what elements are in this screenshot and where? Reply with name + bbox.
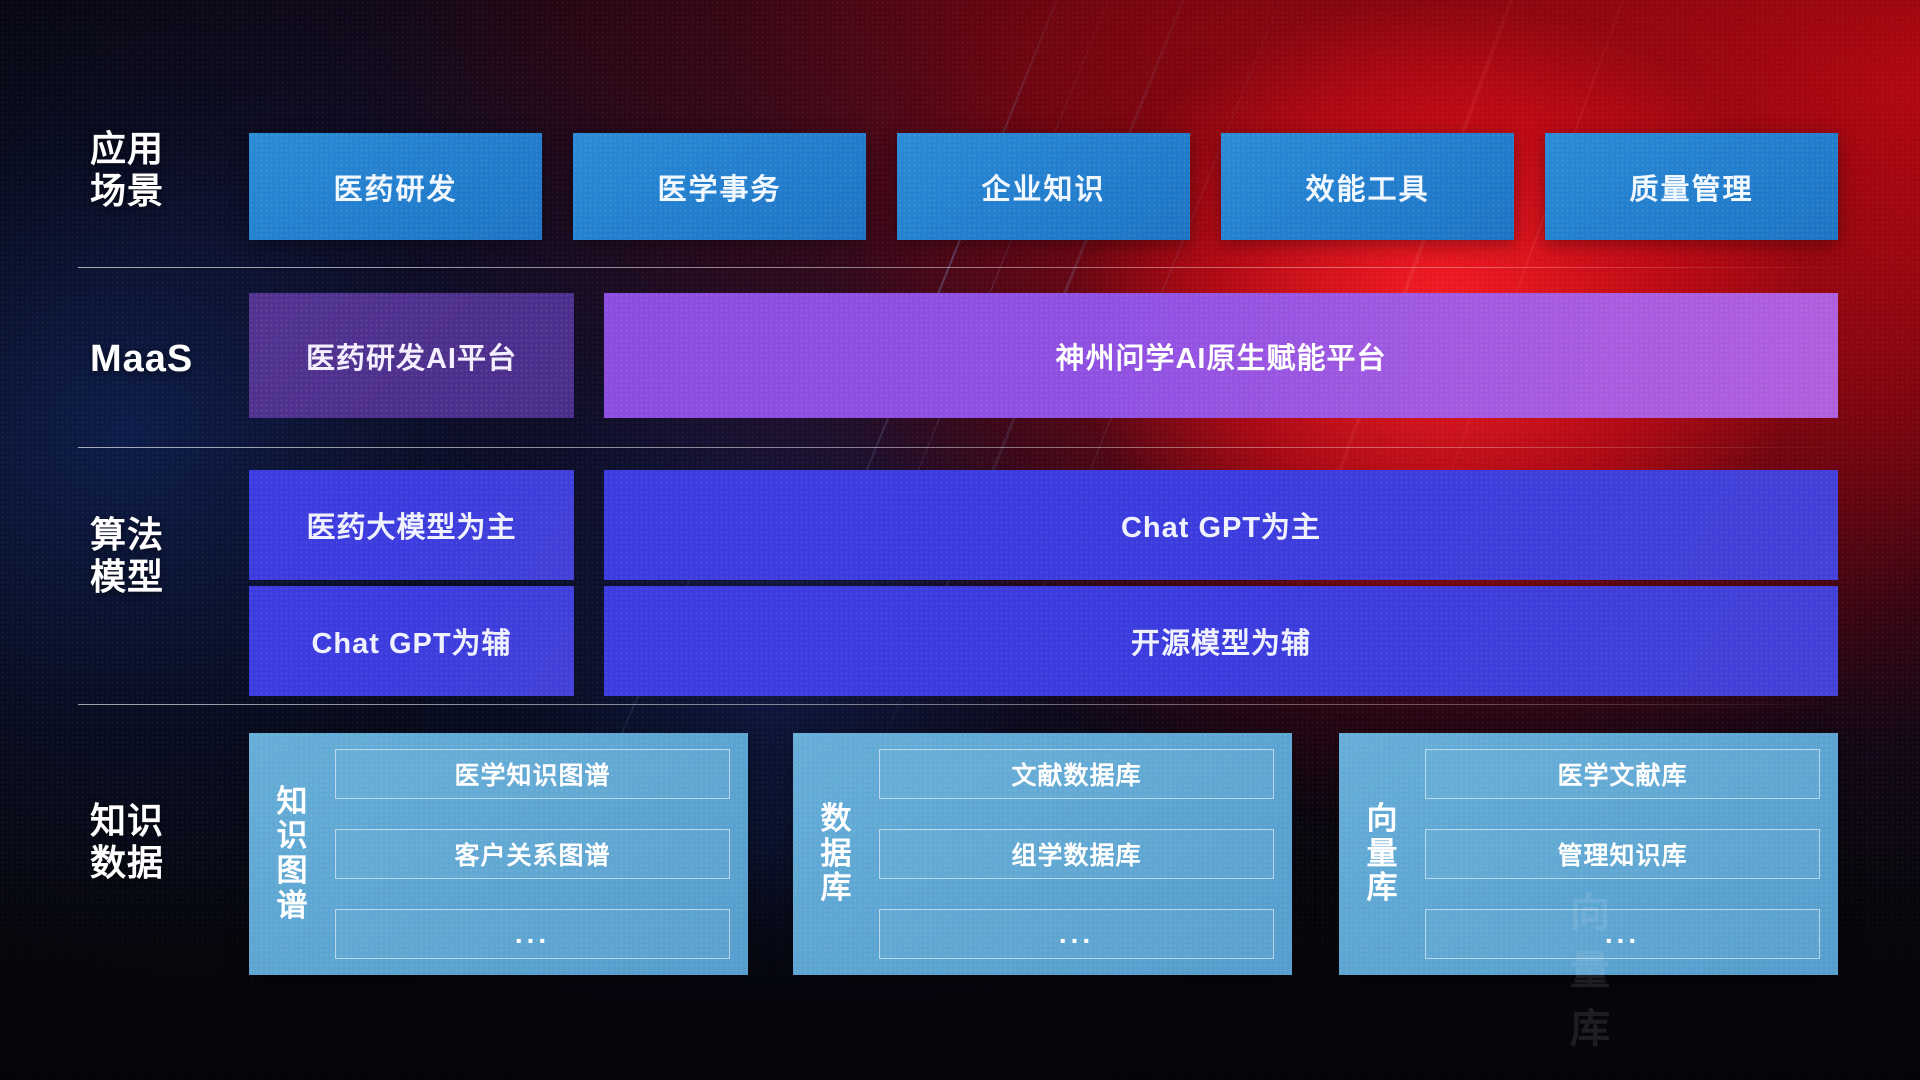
knowledge-panel-items-1: 医学知识图谱 客户关系图谱 ...	[321, 749, 730, 959]
knowledge-item-2-2[interactable]: 组学数据库	[879, 829, 1274, 879]
knowledge-panel-title-2-char2: 据	[821, 837, 852, 872]
app-scenario-box-1[interactable]: 医药研发	[249, 133, 542, 240]
row-label-application-line2: 场景	[90, 170, 230, 212]
algorithm-box-left-1[interactable]: 医药大模型为主	[249, 470, 574, 580]
divider-maas-algorithm	[78, 447, 1840, 448]
divider-application-maas	[78, 267, 1840, 268]
row-label-application: 应用 场景	[90, 128, 230, 213]
app-scenario-label-3: 企业知识	[981, 166, 1105, 208]
algorithm-label-right-2: 开源模型为辅	[1131, 620, 1311, 662]
knowledge-item-1-1[interactable]: 医学知识图谱	[335, 749, 730, 799]
row-label-algorithm-line1: 算法	[90, 514, 230, 556]
row-label-maas-line1: MaaS	[90, 337, 230, 382]
app-scenario-label-4: 效能工具	[1305, 166, 1429, 208]
knowledge-item-1-2[interactable]: 客户关系图谱	[335, 829, 730, 879]
algorithm-label-left-1: 医药大模型为主	[306, 504, 516, 546]
row-label-algorithm-line2: 模型	[90, 556, 230, 598]
app-scenario-box-5[interactable]: 质量管理	[1545, 133, 1838, 240]
knowledge-panel-title-1-char4: 谱	[277, 889, 308, 924]
knowledge-panel-title-1-char3: 图	[277, 854, 308, 889]
app-scenario-box-2[interactable]: 医学事务	[573, 133, 866, 240]
knowledge-item-2-1[interactable]: 文献数据库	[879, 749, 1274, 799]
knowledge-panel-items-2: 文献数据库 组学数据库 ...	[865, 749, 1274, 959]
knowledge-item-3-3[interactable]: ...	[1425, 909, 1820, 959]
row-label-knowledge-line1: 知识	[90, 800, 230, 842]
knowledge-panel-title-2: 数 据 库	[807, 749, 865, 959]
knowledge-panel-title-3-char2: 量	[1367, 837, 1398, 872]
maas-box-left[interactable]: 医药研发AI平台	[249, 293, 574, 418]
knowledge-item-2-3[interactable]: ...	[879, 909, 1274, 959]
algorithm-box-right-1[interactable]: Chat GPT为主	[604, 470, 1838, 580]
knowledge-panel-title-1: 知 识 图 谱	[263, 749, 321, 959]
row-label-maas: MaaS	[90, 337, 230, 382]
maas-box-right-label: 神州问学AI原生赋能平台	[1055, 335, 1386, 377]
row-label-application-line1: 应用	[90, 128, 230, 170]
app-scenario-box-3[interactable]: 企业知识	[897, 133, 1190, 240]
algorithm-box-left-2[interactable]: Chat GPT为辅	[249, 586, 574, 696]
knowledge-panel-items-3: 医学文献库 管理知识库 ...	[1411, 749, 1820, 959]
knowledge-panel-title-3-char1: 向	[1367, 802, 1398, 837]
algorithm-box-right-2[interactable]: 开源模型为辅	[604, 586, 1838, 696]
knowledge-item-1-3[interactable]: ...	[335, 909, 730, 959]
diagram-stage: 应用 场景 医药研发 医学事务 企业知识 效能工具 质量管理 MaaS 医药研发…	[0, 0, 1920, 1080]
knowledge-panel-title-2-char1: 数	[821, 802, 852, 837]
knowledge-panel-title-3-char3: 库	[1367, 871, 1398, 906]
app-scenario-label-5: 质量管理	[1629, 166, 1753, 208]
app-scenario-box-4[interactable]: 效能工具	[1221, 133, 1514, 240]
knowledge-panel-database[interactable]: 数 据 库 文献数据库 组学数据库 ...	[793, 733, 1292, 975]
maas-box-right[interactable]: 神州问学AI原生赋能平台	[604, 293, 1838, 418]
row-label-knowledge-line2: 数据	[90, 842, 230, 884]
maas-box-left-label: 医药研发AI平台	[306, 335, 517, 377]
knowledge-panel-title-3: 向 量 库	[1353, 749, 1411, 959]
knowledge-panel-title-1-char2: 识	[277, 819, 308, 854]
knowledge-panel-vector-store[interactable]: 向 量 库 医学文献库 管理知识库 ...	[1339, 733, 1838, 975]
algorithm-label-left-2: Chat GPT为辅	[311, 620, 511, 662]
knowledge-item-3-1[interactable]: 医学文献库	[1425, 749, 1820, 799]
row-label-knowledge: 知识 数据	[90, 800, 230, 885]
row-label-algorithm: 算法 模型	[90, 514, 230, 599]
knowledge-panel-title-2-char3: 库	[821, 871, 852, 906]
app-scenario-label-1: 医药研发	[333, 166, 457, 208]
app-scenario-label-2: 医学事务	[657, 166, 781, 208]
knowledge-panel-knowledge-graph[interactable]: 知 识 图 谱 医学知识图谱 客户关系图谱 ...	[249, 733, 748, 975]
knowledge-panel-title-1-char1: 知	[277, 785, 308, 820]
algorithm-label-right-1: Chat GPT为主	[1121, 504, 1321, 546]
knowledge-item-3-2[interactable]: 管理知识库	[1425, 829, 1820, 879]
divider-algorithm-knowledge	[78, 704, 1840, 705]
